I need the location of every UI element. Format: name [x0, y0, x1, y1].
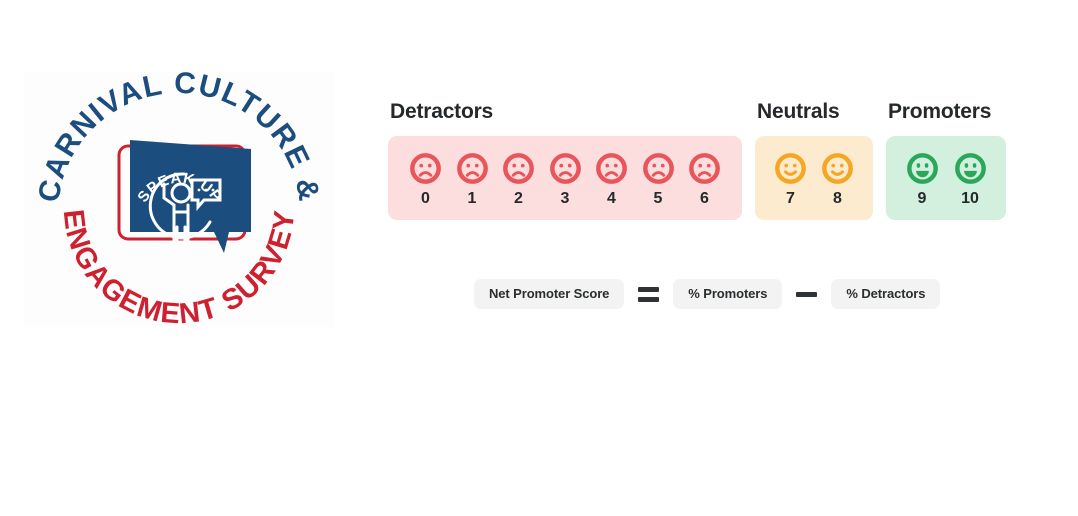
- promoters-heading: Promoters: [888, 101, 1006, 122]
- frown-face-icon: [410, 153, 441, 184]
- score-label: 3: [561, 191, 570, 207]
- logo-panel: CARNIVAL CULTURE & ENGAGEMENT SURVEY SPE…: [24, 72, 335, 327]
- neutrals-group: Neutrals 7: [755, 101, 873, 220]
- score-cell-4[interactable]: 4: [588, 153, 635, 207]
- score-cell-7[interactable]: 7: [767, 153, 814, 207]
- smile-face-icon: [955, 153, 986, 184]
- equals-operator-icon: [638, 287, 659, 302]
- score-label: 0: [421, 191, 430, 207]
- score-label: 5: [654, 191, 663, 207]
- frown-face-icon: [643, 153, 674, 184]
- net-promoter-score-chip: Net Promoter Score: [474, 279, 624, 309]
- score-label: 10: [961, 191, 979, 207]
- detractors-group: Detractors 0: [388, 101, 742, 220]
- percent-promoters-chip: % Promoters: [673, 279, 782, 309]
- promoters-band: 9 10: [886, 136, 1006, 220]
- score-cell-9[interactable]: 9: [898, 153, 946, 207]
- frown-face-icon: [689, 153, 720, 184]
- minus-operator-icon: [796, 292, 817, 297]
- promoters-score-row: 9 10: [886, 153, 1006, 207]
- score-label: 8: [833, 191, 842, 207]
- score-label: 9: [918, 191, 927, 207]
- neutrals-score-row: 7 8: [755, 153, 873, 207]
- score-cell-10[interactable]: 10: [946, 153, 994, 207]
- score-cell-8[interactable]: 8: [814, 153, 861, 207]
- slight-smile-face-icon: [822, 153, 853, 184]
- score-label: 1: [468, 191, 477, 207]
- nps-formula-row: Net Promoter Score % Promoters % Detract…: [474, 279, 940, 309]
- detractors-heading: Detractors: [390, 101, 742, 122]
- score-label: 2: [514, 191, 523, 207]
- smile-face-icon: [907, 153, 938, 184]
- score-cell-3[interactable]: 3: [542, 153, 589, 207]
- score-label: 6: [700, 191, 709, 207]
- equals-bar-top: [638, 287, 659, 292]
- detractors-band: 0 1: [388, 136, 742, 220]
- frown-face-icon: [457, 153, 488, 184]
- frown-face-icon: [550, 153, 581, 184]
- detractors-score-row: 0 1: [388, 153, 742, 207]
- slight-smile-face-icon: [775, 153, 806, 184]
- promoters-group: Promoters 9: [886, 101, 1006, 220]
- score-cell-2[interactable]: 2: [495, 153, 542, 207]
- neutrals-band: 7 8: [755, 136, 873, 220]
- score-cell-5[interactable]: 5: [635, 153, 682, 207]
- equals-bar-bottom: [638, 297, 659, 302]
- percent-detractors-chip: % Detractors: [831, 279, 940, 309]
- frown-face-icon: [503, 153, 534, 184]
- logo-svg: CARNIVAL CULTURE & ENGAGEMENT SURVEY SPE…: [24, 72, 335, 327]
- score-cell-0[interactable]: 0: [402, 153, 449, 207]
- score-label: 4: [607, 191, 616, 207]
- score-cell-1[interactable]: 1: [449, 153, 496, 207]
- minus-bar: [796, 292, 817, 297]
- frown-face-icon: [596, 153, 627, 184]
- score-cell-6[interactable]: 6: [681, 153, 728, 207]
- score-label: 7: [786, 191, 795, 207]
- neutrals-heading: Neutrals: [757, 101, 873, 122]
